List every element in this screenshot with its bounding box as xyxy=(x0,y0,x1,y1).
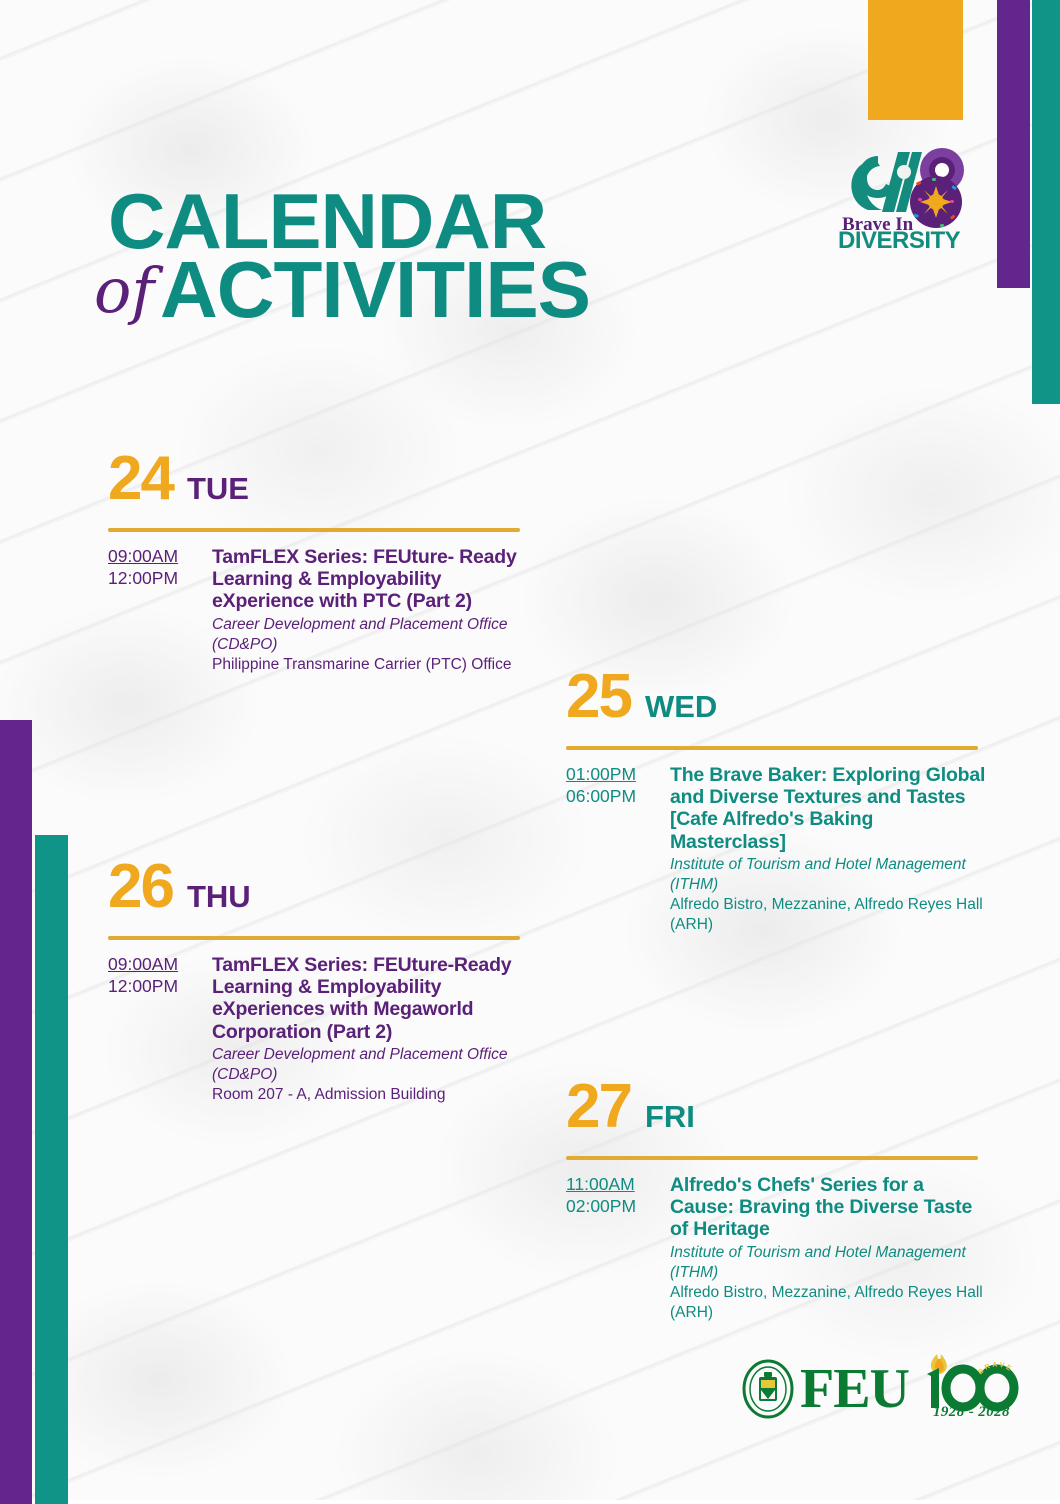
event-title: TamFLEX Series: FEUture- Ready Learning … xyxy=(212,546,528,613)
day-block: 27 FRI 11:00AM 02:00PM Alfredo's Chefs' … xyxy=(566,1076,986,1323)
feu-seal-icon xyxy=(742,1359,794,1419)
day-header: 26 THU xyxy=(108,856,528,912)
title-row-activities: of ACTIVITIES xyxy=(108,254,538,338)
event-time-range: 01:00PM 06:00PM xyxy=(566,764,662,935)
event-time-end: 12:00PM xyxy=(108,568,204,590)
event-time-range: 09:00AM 12:00PM xyxy=(108,546,204,675)
header: CALENDAR of ACTIVITIES xyxy=(0,0,1060,340)
event-organizer: Institute of Tourism and Hotel Managemen… xyxy=(670,855,986,895)
event-time-range: 11:00AM 02:00PM xyxy=(566,1174,662,1323)
brave-in-diversity-icon: Brave In DIVERSITY xyxy=(836,138,986,250)
day-block: 24 TUE 09:00AM 12:00PM TamFLEX Series: F… xyxy=(108,448,528,675)
feu-footer-logo: FEU BRAVE 1928 - 2028 xyxy=(742,1352,1029,1426)
centennial-years: 1928 - 2028 xyxy=(933,1404,1010,1421)
day-number: 25 xyxy=(566,666,631,728)
event-title: TamFLEX Series: FEUture-Ready Learning &… xyxy=(212,954,528,1043)
event-time-start: 11:00AM xyxy=(566,1174,662,1196)
day-header: 25 WED xyxy=(566,666,986,722)
event-time-start: 09:00AM xyxy=(108,954,204,976)
feu-wordmark: FEU xyxy=(800,1361,909,1417)
title-word-of: of xyxy=(94,260,154,322)
event-venue: Room 207 - A, Admission Building xyxy=(212,1085,528,1105)
page-title: CALENDAR of ACTIVITIES xyxy=(108,186,538,338)
event-time-start: 01:00PM xyxy=(566,764,662,786)
day-header: 24 TUE xyxy=(108,448,528,504)
decorative-bar-teal-left xyxy=(35,835,68,1504)
day-weekday: FRI xyxy=(645,1101,695,1132)
event-details: The Brave Baker: Exploring Global and Di… xyxy=(662,764,986,935)
event-details: Alfredo's Chefs' Series for a Cause: Bra… xyxy=(662,1174,986,1323)
day-header: 27 FRI xyxy=(566,1076,986,1132)
brave-in-diversity-logo: Brave In DIVERSITY xyxy=(836,138,986,250)
event-organizer: Career Development and Placement Office … xyxy=(212,1045,528,1085)
event-title: The Brave Baker: Exploring Global and Di… xyxy=(670,764,986,853)
day-divider xyxy=(566,1156,978,1160)
brand-logo-line2: DIVERSITY xyxy=(838,227,961,250)
event-time-start: 09:00AM xyxy=(108,546,204,568)
day-divider xyxy=(566,746,978,750)
event-item: 01:00PM 06:00PM The Brave Baker: Explori… xyxy=(566,764,986,935)
event-organizer: Institute of Tourism and Hotel Managemen… xyxy=(670,1243,986,1283)
event-organizer: Career Development and Placement Office … xyxy=(212,615,528,655)
event-venue: Philippine Transmarine Carrier (PTC) Off… xyxy=(212,655,528,675)
day-weekday: TUE xyxy=(187,473,249,504)
day-block: 25 WED 01:00PM 06:00PM The Brave Baker: … xyxy=(566,666,986,935)
day-number: 26 xyxy=(108,856,173,918)
day-number: 27 xyxy=(566,1076,631,1138)
event-time-end: 02:00PM xyxy=(566,1196,662,1218)
event-time-range: 09:00AM 12:00PM xyxy=(108,954,204,1105)
event-venue: Alfredo Bistro, Mezzanine, Alfredo Reyes… xyxy=(670,1283,986,1323)
event-time-end: 12:00PM xyxy=(108,976,204,998)
day-divider xyxy=(108,528,520,532)
day-weekday: THU xyxy=(187,881,251,912)
event-venue: Alfredo Bistro, Mezzanine, Alfredo Reyes… xyxy=(670,895,986,935)
day-divider xyxy=(108,936,520,940)
event-item: 09:00AM 12:00PM TamFLEX Series: FEUture-… xyxy=(108,954,528,1105)
event-details: TamFLEX Series: FEUture- Ready Learning … xyxy=(204,546,528,675)
day-number: 24 xyxy=(108,448,173,510)
day-block: 26 THU 09:00AM 12:00PM TamFLEX Series: F… xyxy=(108,856,528,1105)
title-line-activities: ACTIVITIES xyxy=(160,250,590,330)
event-time-end: 06:00PM xyxy=(566,786,662,808)
feu-centennial-mark: BRAVE 1928 - 2028 xyxy=(917,1352,1029,1426)
day-weekday: WED xyxy=(645,691,717,722)
event-item: 09:00AM 12:00PM TamFLEX Series: FEUture-… xyxy=(108,546,528,675)
event-title: Alfredo's Chefs' Series for a Cause: Bra… xyxy=(670,1174,986,1241)
event-details: TamFLEX Series: FEUture-Ready Learning &… xyxy=(204,954,528,1105)
decorative-bar-purple-left xyxy=(0,720,32,1504)
event-item: 11:00AM 02:00PM Alfredo's Chefs' Series … xyxy=(566,1174,986,1323)
centennial-100-icon: BRAVE xyxy=(917,1352,1029,1412)
